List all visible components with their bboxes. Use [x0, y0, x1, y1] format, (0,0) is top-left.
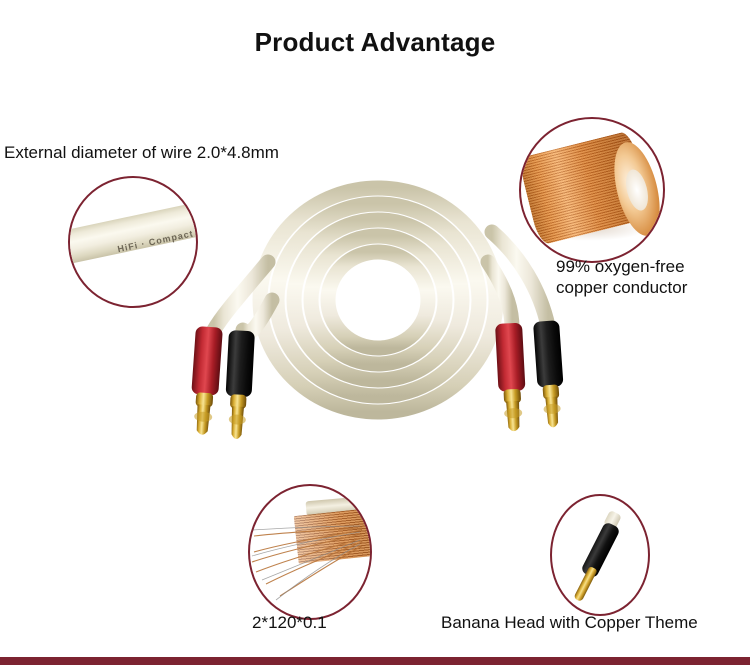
- callout-circle-diameter: HiFi · Compact Pro: [68, 176, 198, 308]
- callout-label-banana: Banana Head with Copper Theme: [441, 612, 698, 633]
- callout-circle-banana: [550, 494, 650, 616]
- callout-label-copper: 99% oxygen-free copper conductor: [556, 256, 687, 298]
- callout-label-strands: 2*120*0.1: [252, 612, 327, 633]
- callout-label-diameter: External diameter of wire 2.0*4.8mm: [4, 142, 279, 163]
- black-banana-plug-icon: [552, 496, 648, 614]
- footer-accent-bar: [0, 657, 750, 665]
- copper-wire-spool-icon: [521, 119, 663, 261]
- cable-jacket-closeup-icon: HiFi · Compact Pro: [70, 178, 196, 306]
- product-advantage-banner: Product Advantage: [0, 0, 750, 665]
- loose-strand-lines: [250, 486, 372, 620]
- frayed-copper-strands-icon: [250, 486, 370, 618]
- page-title: Product Advantage: [0, 27, 750, 58]
- callout-circle-strands: [248, 484, 372, 620]
- banana-plug-gold-pin: [573, 566, 597, 602]
- callout-circle-copper: [519, 117, 665, 263]
